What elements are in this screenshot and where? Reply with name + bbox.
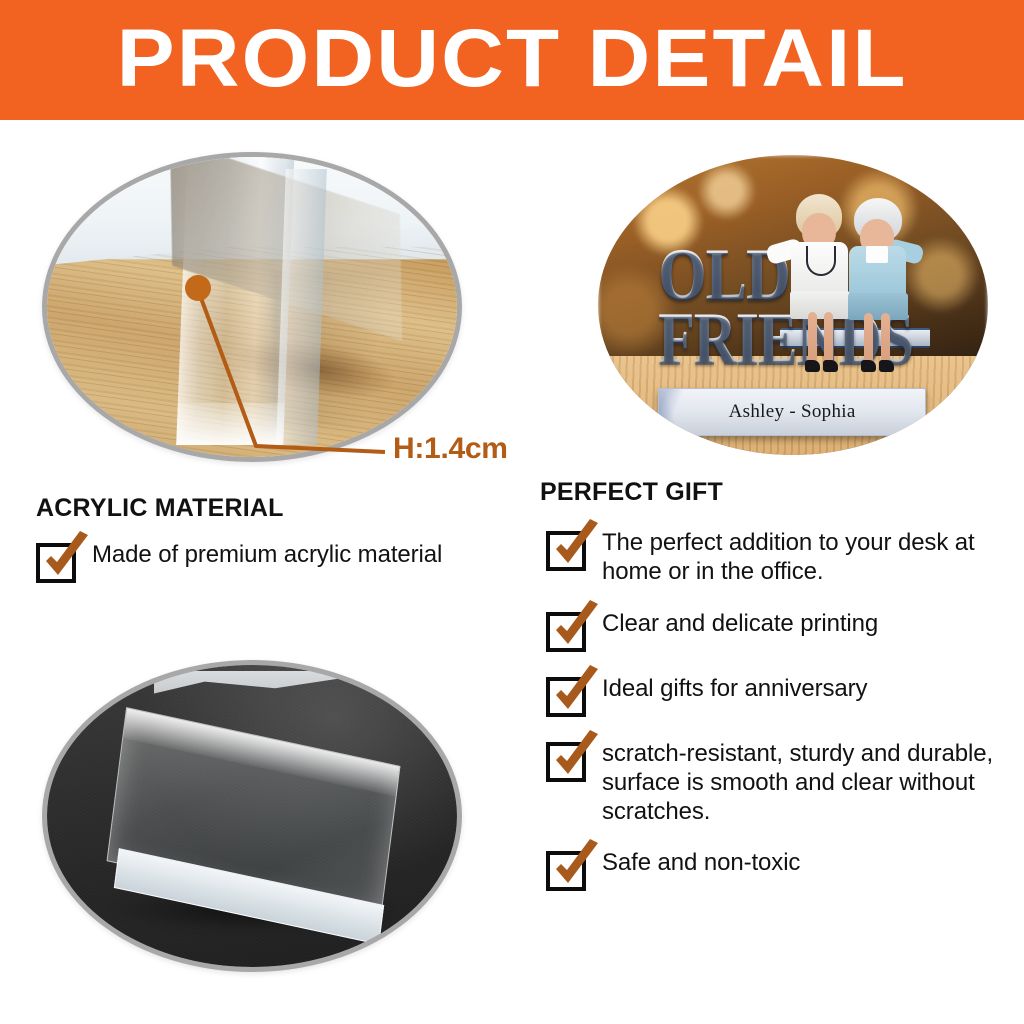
checkbox-checked[interactable] [36,543,76,583]
right-person-shoe [861,360,876,372]
checkmark-icon [548,839,604,895]
feature-text: Ideal gifts for anniversary [602,674,867,703]
feature-item: Clear and delicate printing [546,609,1008,652]
checkbox-checked[interactable] [546,677,586,717]
checkmark-icon [548,600,604,656]
feature-item: scratch-resistant, sturdy and durable, s… [546,739,1008,827]
left-person-shoe [823,360,838,372]
feature-text: Safe and non-toxic [602,848,800,877]
left-person-leg [808,312,817,364]
checkmark-icon [548,665,604,721]
feature-item: Safe and non-toxic [546,848,1008,891]
acrylic-edge-on-wood-photo [42,152,462,462]
page-header: PRODUCT DETAIL [0,0,1024,120]
checkbox-checked[interactable] [546,612,586,652]
feature-list-perfect-gift: The perfect addition to your desk at hom… [546,528,1008,913]
left-person-skirt [790,291,850,319]
right-person-skirt [848,293,908,320]
right-person-leg [881,313,890,364]
checkmark-icon [548,730,604,786]
feature-item: Made of premium acrylic material [36,540,516,583]
product-detail-page: PRODUCT DETAIL H:1.4cm OLD FRIENDS [0,0,1024,1024]
left-person-leg [824,312,833,364]
acrylic-slab-bevel [177,403,285,445]
checkbox-checked[interactable] [546,851,586,891]
left-person-necklace [806,246,836,276]
feature-item: Ideal gifts for anniversary [546,674,1008,717]
right-person-shoe [879,360,894,372]
acrylic-block-on-slate-photo [42,660,462,972]
page-title: PRODUCT DETAIL [116,18,907,100]
feature-item: The perfect addition to your desk at hom… [546,528,1008,587]
old-friends-figurine-photo: OLD FRIENDS [598,155,988,455]
figurine-person-right [843,198,918,367]
section-heading-acrylic-material: ACRYLIC MATERIAL [36,494,284,523]
wood-scene [47,157,457,457]
figurine-nameplate-text: Ashley - Sophia [729,401,856,423]
checkbox-checked[interactable] [546,742,586,782]
figurine-nameplate: Ashley - Sophia [658,388,926,436]
checkmark-icon [38,531,94,587]
left-person-shoe [805,360,820,372]
checkmark-icon [548,519,604,575]
right-person-collar [866,246,889,263]
section-heading-perfect-gift: PERFECT GIFT [540,478,723,507]
feature-list-acrylic-material: Made of premium acrylic material [36,540,516,601]
figurine: OLD FRIENDS [653,203,942,431]
feature-text: Clear and delicate printing [602,609,878,638]
right-person-leg [864,313,873,364]
feature-text: The perfect addition to your desk at hom… [602,528,1008,587]
feature-text: scratch-resistant, sturdy and durable, s… [602,739,1008,827]
feature-text: Made of premium acrylic material [92,540,442,569]
checkbox-checked[interactable] [546,531,586,571]
dimension-label: H:1.4cm [393,432,508,466]
